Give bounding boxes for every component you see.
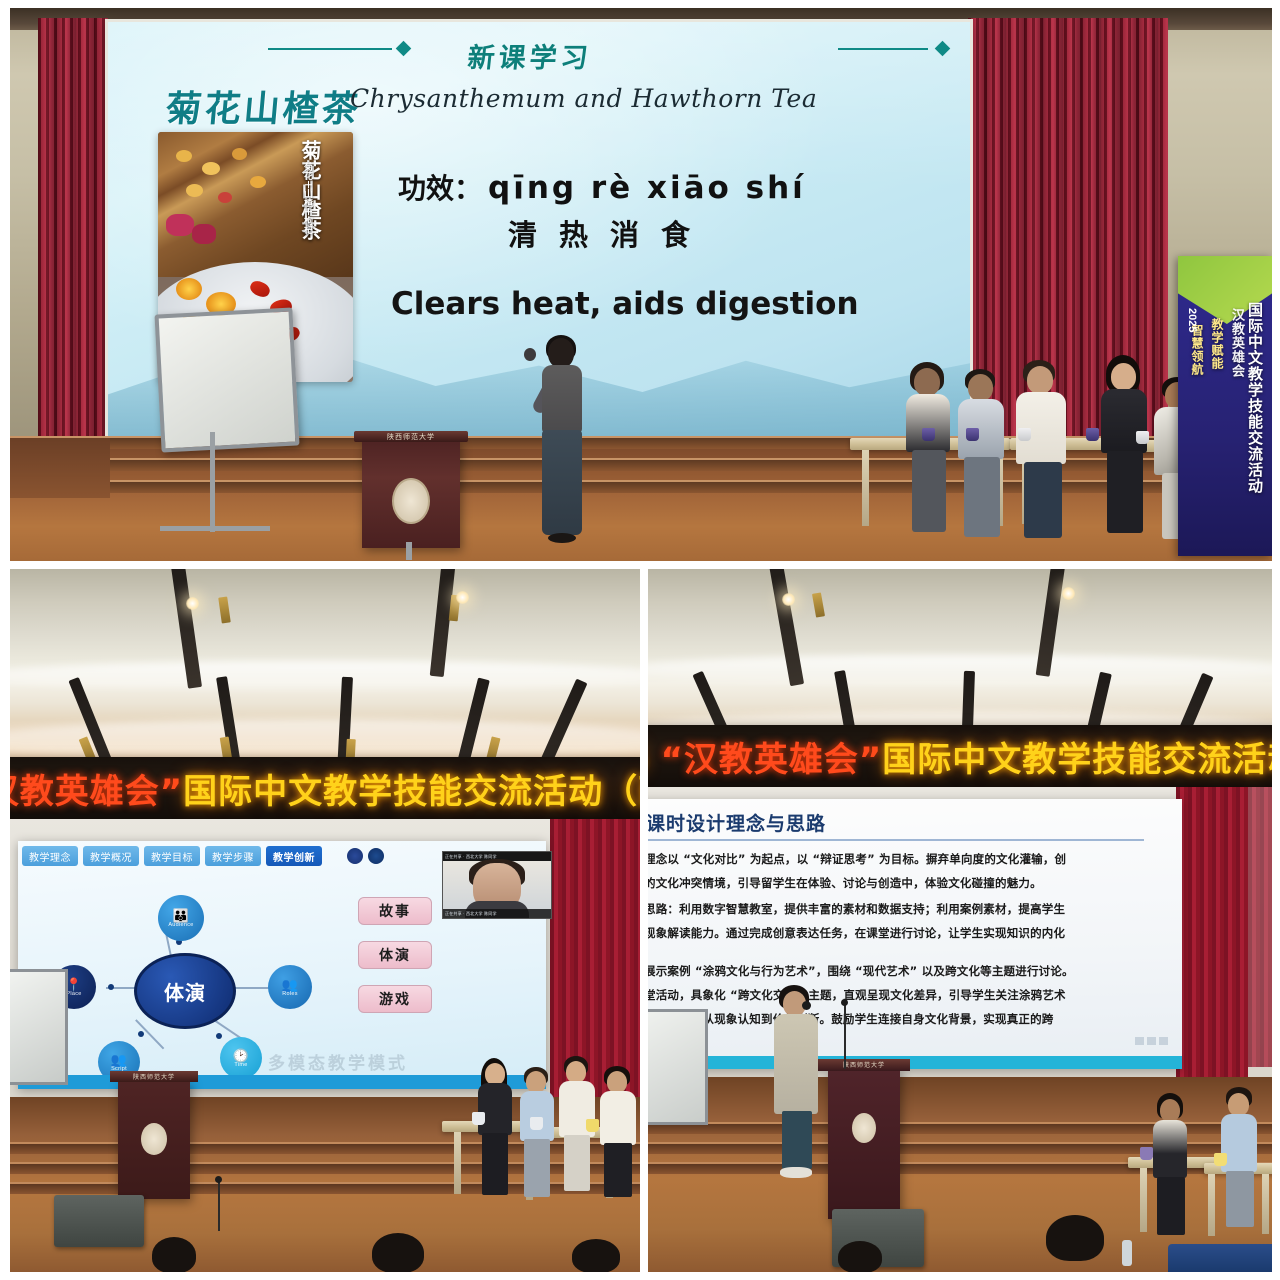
slide-line-5: 展示案例 “涂鸦文化与行为艺术”，围绕 “现代艺术” 以及跨文化等主题进行讨论。	[648, 963, 1074, 979]
bottom-right-photo-panel: 5 “汉教英雄会”国际中文教学技能交流活动（西北片 课时设计理念与思路 理念以 …	[648, 569, 1272, 1272]
cup	[1018, 428, 1031, 441]
hanzi-text: 清热消食	[508, 212, 712, 254]
audience-head	[838, 1241, 882, 1272]
university-seal	[852, 1113, 876, 1143]
podium-label: 陕西师范大学	[362, 432, 460, 442]
ceiling-spotlight	[782, 593, 795, 606]
slide-header-cn: 新课学习	[466, 36, 594, 75]
slide-line-1: 理念以 “文化对比” 为起点，以 “辩证思考” 为目标。摒弃单向度的文化灌输，创	[648, 851, 1066, 867]
led-banner-rest: 国际中文教学技能交流活动（西北片区	[183, 772, 640, 812]
led-banner: 汉教英雄会”国际中文教学技能交流活动（西北片区	[10, 757, 640, 819]
podium: 陕西师范大学	[118, 1081, 190, 1199]
whiteboard-base	[160, 526, 270, 531]
translation-text: Clears heat, aids digestion	[391, 286, 859, 322]
top-photo-panel: 新课学习 菊花山楂茶 Chrysanthemum and Hawthorn Te…	[10, 8, 1272, 561]
cup	[966, 428, 979, 441]
photo-vertical-sub: 菊花＋山楂＋枸杞	[299, 162, 312, 234]
led-banner-title: 汉教英雄会”	[10, 772, 183, 812]
slide-divider-rule	[268, 48, 392, 50]
whiteboard-leg	[210, 432, 215, 532]
clock-icon: 🕑	[233, 1049, 249, 1062]
stage-step	[10, 480, 1272, 493]
collage-margin	[0, 0, 10, 1280]
podium-label: 陕西师范大学	[118, 1072, 190, 1081]
tab-teaching-steps[interactable]: 教学步骤	[205, 846, 261, 866]
diagram-center-node: 体演	[134, 953, 236, 1029]
poster-year: 2025	[1186, 308, 1198, 332]
slide-line-6: 堂活动，具象化 “跨文化交际” 主题，直观呈现文化差异，引导学生关注涂鸦艺术	[648, 987, 1066, 1003]
node-audience: 👪 Audience	[158, 895, 204, 941]
pink-box-story: 故事	[358, 897, 432, 925]
poster-line1: 汉教英雄会	[1227, 308, 1246, 378]
led-banner-title: “汉教英雄会”	[661, 740, 883, 780]
poster-line2: 国际中文教学技能交流活动	[1245, 302, 1266, 494]
water-bottle	[1122, 1240, 1132, 1266]
university-logo-icon	[347, 848, 363, 864]
audience-head	[372, 1233, 424, 1272]
pink-box-game: 游戏	[358, 985, 432, 1013]
efficacy-label: 功效：	[398, 172, 482, 205]
collage-margin	[1272, 0, 1280, 1280]
event-rollup-poster: 国际中文教学技能交流活动 汉教英雄会 教学赋能 智慧领航 2025	[1178, 256, 1272, 556]
cup	[1086, 428, 1099, 441]
whiteboard	[10, 969, 68, 1085]
poster-line3: 教学赋能	[1209, 318, 1226, 370]
university-seal	[141, 1123, 167, 1155]
whiteboard	[154, 307, 299, 452]
ceiling-spotlight	[186, 597, 199, 610]
podium-label: 陕西师范大学	[828, 1060, 900, 1069]
microphone-icon	[802, 1001, 811, 1010]
podium: 陕西师范大学	[362, 440, 460, 548]
auditorium-interior: 5 “汉教英雄会”国际中文教学技能交流活动（西北片 课时设计理念与思路 理念以 …	[648, 569, 1272, 1272]
slide-heading: 课时设计理念与思路	[648, 809, 826, 836]
slide-line-7: 围的情况，从现象认知到价值判断。鼓励学生连接自身文化背景，实现真正的跨	[648, 1011, 1054, 1027]
podium: 陕西师范大学	[828, 1069, 900, 1219]
tab-teaching-objectives[interactable]: 教学目标	[144, 846, 200, 866]
led-banner: 5 “汉教英雄会”国际中文教学技能交流活动（西北片	[648, 725, 1272, 787]
node-place-label: Place	[66, 991, 81, 997]
script-icon: 👥	[111, 1053, 127, 1066]
audience-head	[1046, 1215, 1104, 1261]
presenter	[538, 338, 586, 553]
slide-line-3: 思路：利用数字智慧教室，提供丰富的素材和数据支持；利用案例素材，提高学生	[648, 901, 1065, 917]
roles-icon: 👥	[282, 978, 298, 991]
bottom-left-photo-panel: 汉教英雄会”国际中文教学技能交流活动（西北片区 教学理念 教学概况 教学目标 教…	[10, 569, 640, 1272]
efficacy-line: 功效：qīng rè xiāo shí	[398, 167, 806, 207]
stage-monitor-speaker	[54, 1195, 144, 1247]
university-seal	[392, 478, 430, 524]
node-roles-label: Roles	[282, 991, 298, 997]
ceiling-spotlight	[456, 591, 469, 604]
presentation-slide: 课时设计理念与思路 理念以 “文化对比” 为起点，以 “辩证思考” 为目标。摒弃…	[648, 799, 1182, 1069]
audience-head	[572, 1239, 620, 1272]
node-time: 🕑 Time	[220, 1037, 262, 1079]
slide-watermark: 多模态教学模式	[268, 1049, 408, 1074]
stage-curtain	[1248, 787, 1272, 1067]
video-bottom-caption: 正在共享 · 西北大学 陈同学	[445, 911, 497, 917]
photo-collage: 新课学习 菊花山楂茶 Chrysanthemum and Hawthorn Te…	[0, 0, 1280, 1280]
collage-margin	[0, 1272, 1280, 1280]
tab-teaching-innovation[interactable]: 教学创新	[266, 846, 322, 866]
slide-line-4: 现象解读能力。通过完成创意表达任务，在课堂进行讨论，让学生实现知识的内化	[648, 925, 1065, 941]
ceiling-spotlight	[1062, 587, 1075, 600]
pinyin-text: qīng rè xiāo shí	[488, 170, 806, 206]
cup	[1136, 431, 1149, 444]
stage-curtain	[1176, 787, 1248, 1095]
slide-title-cn: 菊花山楂茶	[164, 80, 364, 132]
led-banner-rest: 国际中文教学技能交流活动（西北片	[882, 740, 1272, 780]
center-node-label: 体演	[164, 977, 206, 1006]
node-time-label: Time	[234, 1062, 247, 1068]
auditorium-interior: 汉教英雄会”国际中文教学技能交流活动（西北片区 教学理念 教学概况 教学目标 教…	[10, 569, 640, 1272]
location-pin-icon: 📍	[66, 978, 82, 991]
wall-wood-panel	[10, 438, 110, 498]
photo-vertical-caption: 菊花山楂茶 菊花＋山楂＋枸杞	[300, 140, 350, 240]
slide-title-en: Chrysanthemum and Hawthorn Tea	[350, 84, 817, 113]
whiteboard	[648, 1009, 708, 1125]
slide-divider-rule	[838, 48, 928, 50]
panel-separator	[640, 561, 648, 1280]
cup	[922, 428, 935, 441]
node-roles: 👥 Roles	[268, 965, 312, 1009]
node-audience-label: Audience	[168, 922, 193, 928]
audience-icon: 👪	[173, 909, 189, 922]
stage-step	[10, 458, 1272, 471]
pink-box-performance: 体演	[358, 941, 432, 969]
video-thumbnail[interactable]: 正在共享 · 西北大学 陈同学 正在共享 · 西北大学 陈同学	[442, 851, 552, 919]
slide-line-2: 的文化冲突情境，引导留学生在体验、讨论与创造中，体验文化碰撞的魅力。	[648, 875, 1042, 891]
collage-margin	[0, 0, 1280, 8]
partner-logo-icon	[368, 848, 384, 864]
audience-desk-items	[1168, 1244, 1272, 1272]
slide-nav-buttons[interactable]	[1135, 1037, 1168, 1045]
tab-teaching-overview[interactable]: 教学概况	[83, 846, 139, 866]
audience-head	[152, 1237, 196, 1272]
tab-teaching-concept[interactable]: 教学理念	[22, 846, 78, 866]
